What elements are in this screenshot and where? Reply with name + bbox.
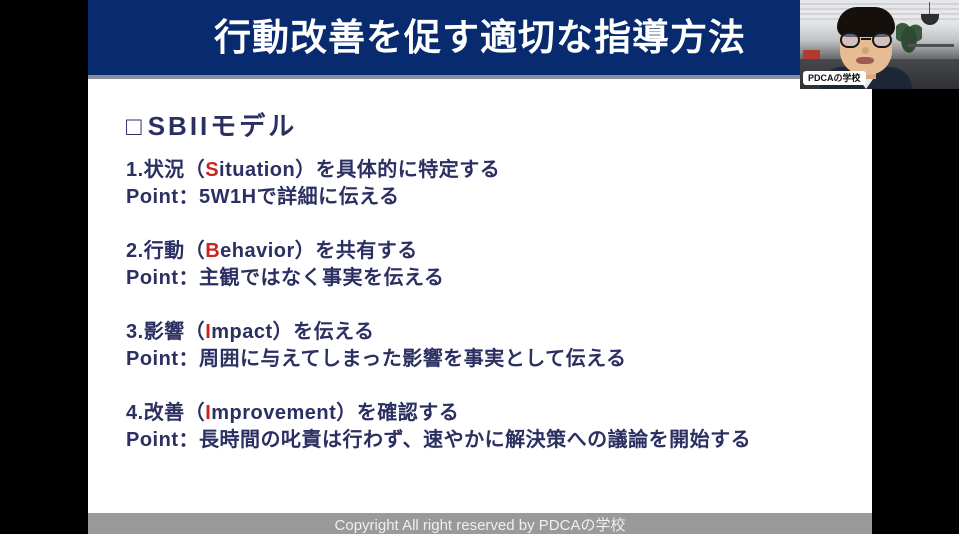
pendant-lamp-icon: [921, 14, 939, 25]
block-topic-after: mpact）を伝える: [211, 321, 374, 343]
slide-body: □SBIIモデル 1.状況（Situation）を具体的に特定する Point：…: [88, 79, 872, 513]
block-topic-line: 3.影響（Impact）を伝える: [126, 319, 866, 346]
point-text: 長時間の叱責は行わず、速やかに解決策への議論を開始する: [199, 429, 751, 451]
nose-shape: [862, 47, 869, 54]
block-point-line: Point：長時間の叱責は行わず、速やかに解決策への議論を開始する: [126, 427, 866, 454]
point-label: Point：: [126, 429, 199, 451]
point-label: Point：: [126, 186, 199, 208]
slide-header-band: 行動改善を促す適切な指導方法: [88, 0, 872, 75]
glasses-icon: [839, 32, 893, 48]
block-topic-before: 状況（: [144, 159, 206, 181]
point-text: 周囲に与えてしまった影響を事実として伝える: [199, 348, 627, 370]
square-bullet-icon: □: [126, 111, 148, 141]
block-topic-line: 2.行動（Behavior）を共有する: [126, 238, 866, 265]
block-point-line: Point：周囲に与えてしまった影響を事実として伝える: [126, 346, 866, 373]
sbii-block-behavior: 2.行動（Behavior）を共有する Point：主観ではなく事実を伝える: [126, 238, 866, 292]
webcam-name-label: PDCAの学校: [803, 71, 866, 85]
point-text: 主観ではなく事実を伝える: [199, 267, 444, 289]
point-label: Point：: [126, 267, 199, 289]
slide-title: 行動改善を促す適切な指導方法: [88, 0, 872, 75]
glasses-lens-right: [872, 32, 892, 48]
copyright-text: Copyright All right reserved by PDCAの学校: [88, 513, 872, 534]
block-point-line: Point：5W1Hで詳細に伝える: [126, 184, 866, 211]
block-number: 4.: [126, 402, 144, 424]
point-text: 5W1Hで詳細に伝える: [199, 186, 399, 208]
block-point-line: Point：主観ではなく事実を伝える: [126, 265, 866, 292]
glasses-bridge: [861, 38, 871, 40]
presentation-slide: 行動改善を促す適切な指導方法 □SBIIモデル 1.状況（Situation）を…: [88, 0, 872, 534]
block-number: 3.: [126, 321, 144, 343]
mouth-shape: [856, 57, 874, 64]
block-topic-before: 影響（: [144, 321, 206, 343]
slide-footer-bar: Copyright All right reserved by PDCAの学校: [88, 513, 872, 534]
glasses-lens-left: [840, 32, 860, 48]
block-topic-after: mprovement）を確認する: [211, 402, 459, 424]
block-number: 1.: [126, 159, 144, 181]
webcam-overlay[interactable]: PDCAの学校: [800, 0, 959, 89]
block-accent-letter: B: [205, 240, 220, 262]
block-topic-before: 改善（: [144, 402, 206, 424]
block-topic-after: ituation）を具体的に特定する: [219, 159, 500, 181]
point-label: Point：: [126, 348, 199, 370]
block-topic-line: 1.状況（Situation）を具体的に特定する: [126, 157, 866, 184]
block-topic-after: ehavior）を共有する: [220, 240, 418, 262]
block-accent-letter: S: [205, 159, 219, 181]
block-topic-before: 行動（: [144, 240, 206, 262]
sbii-block-situation: 1.状況（Situation）を具体的に特定する Point：5W1Hで詳細に伝…: [126, 157, 866, 211]
section-heading-label: SBIIモデル: [148, 111, 298, 141]
section-heading: □SBIIモデル: [126, 106, 297, 143]
video-player-stage: 行動改善を促す適切な指導方法 □SBIIモデル 1.状況（Situation）を…: [0, 0, 959, 534]
block-topic-line: 4.改善（Improvement）を確認する: [126, 400, 866, 427]
sbii-block-impact: 3.影響（Impact）を伝える Point：周囲に与えてしまった影響を事実とし…: [126, 319, 866, 373]
desk-shape: [908, 44, 954, 47]
block-number: 2.: [126, 240, 144, 262]
sbii-block-improvement: 4.改善（Improvement）を確認する Point：長時間の叱責は行わず、…: [126, 400, 866, 454]
